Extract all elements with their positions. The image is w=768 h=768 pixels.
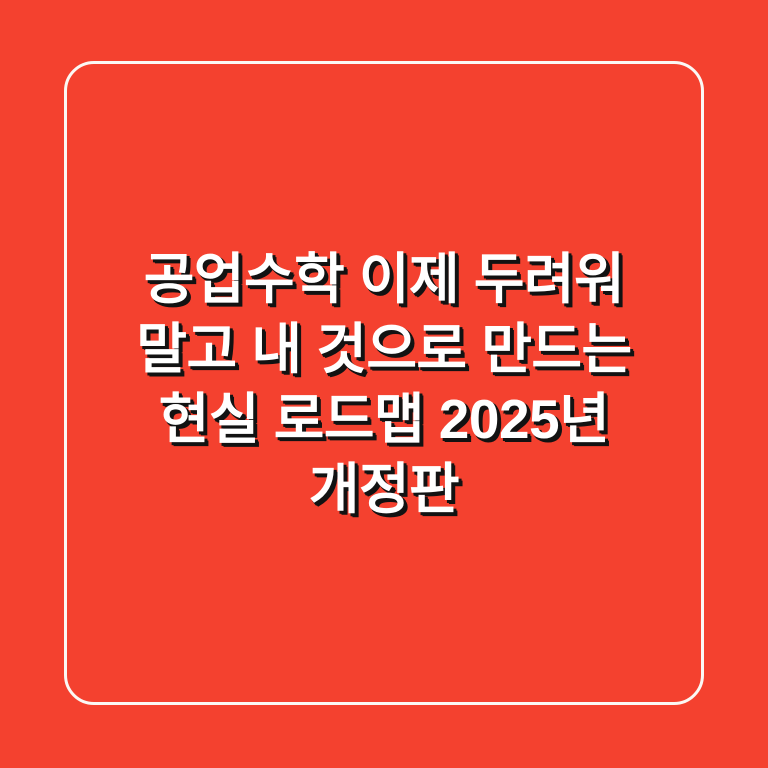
page-title: 공업수학 이제 두려워 말고 내 것으로 만드는 현실 로드맵 2025년 개정… xyxy=(70,244,698,524)
headline-block: 공업수학 이제 두려워 말고 내 것으로 만드는 현실 로드맵 2025년 개정… xyxy=(0,0,768,768)
headline-line-1: 공업수학 이제 두려워 xyxy=(70,244,698,314)
headline-line-2: 말고 내 것으로 만드는 xyxy=(70,314,698,384)
thumbnail-card: 공업수학 이제 두려워 말고 내 것으로 만드는 현실 로드맵 2025년 개정… xyxy=(0,0,768,768)
headline-line-3: 현실 로드맵 2025년 xyxy=(70,384,698,454)
headline-line-4: 개정판 xyxy=(70,454,698,524)
